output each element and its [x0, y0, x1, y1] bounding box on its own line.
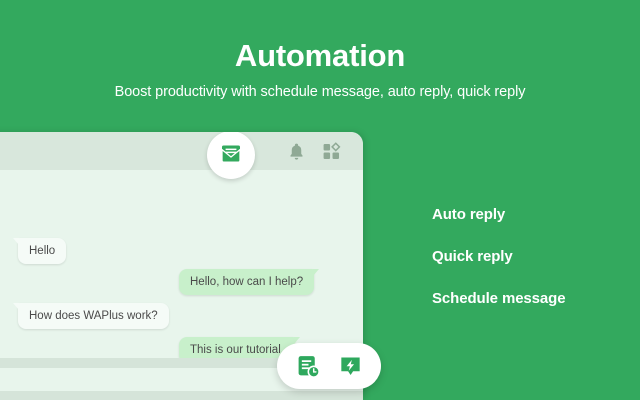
feature-list: Auto reply Quick reply Schedule message — [432, 206, 565, 332]
schedule-message-icon[interactable] — [294, 352, 322, 380]
chat-message-list: Hello Hello, how can I help? How does WA… — [0, 170, 363, 358]
envelope-icon — [219, 141, 243, 170]
page-title: Automation — [0, 38, 640, 74]
header-icon-group — [287, 132, 341, 170]
envelope-badge[interactable] — [207, 132, 255, 179]
chat-message-outgoing: Hello, how can I help? — [179, 269, 314, 295]
panel-footer-bar — [0, 391, 363, 400]
feature-item-schedule-message: Schedule message — [432, 290, 565, 307]
quick-reply-icon[interactable] — [336, 352, 364, 380]
bell-icon[interactable] — [287, 142, 306, 161]
chat-message-incoming: How does WAPlus work? — [18, 303, 169, 329]
feature-item-auto-reply: Auto reply — [432, 206, 565, 223]
grid-icon[interactable] — [322, 142, 341, 161]
chat-message-incoming: Hello — [18, 238, 66, 264]
page-subtitle: Boost productivity with schedule message… — [0, 84, 640, 100]
chat-header-bar — [0, 132, 363, 170]
feature-item-quick-reply: Quick reply — [432, 248, 565, 265]
action-pill — [277, 343, 381, 389]
